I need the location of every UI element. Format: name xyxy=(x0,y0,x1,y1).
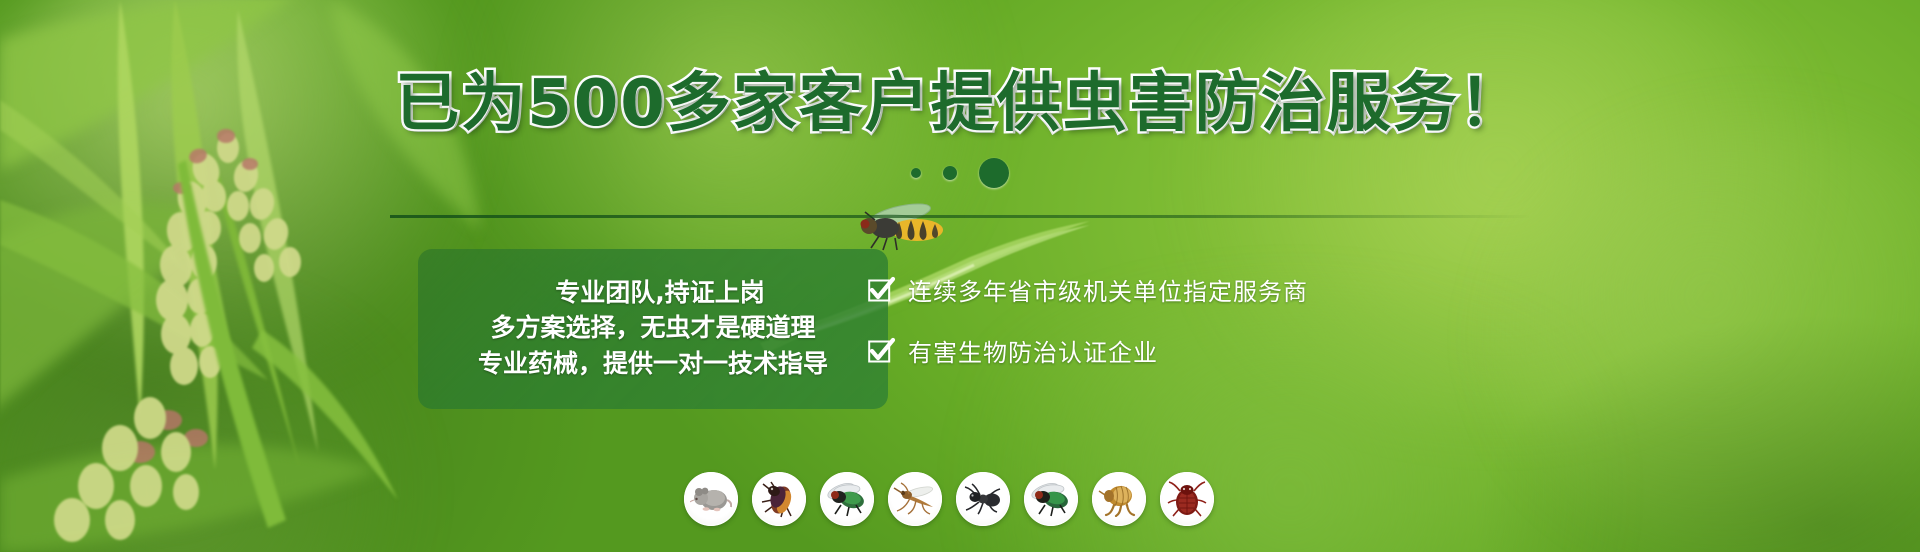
bedbug-icon[interactable] xyxy=(1160,472,1214,526)
decorative-dots xyxy=(0,158,1920,188)
dot-small-icon xyxy=(911,168,921,178)
panel-line-3: 专业药械，提供一对一技术指导 xyxy=(418,346,888,382)
credentials-list: 连续多年省市级机关单位指定服务商 有害生物防治认证企业 xyxy=(868,272,1308,368)
ant-icon[interactable] xyxy=(956,472,1010,526)
page-title: 已为500多家客户提供虫害防治服务！ xyxy=(0,72,1920,136)
features-panel-text: 专业团队,持证上岗 多方案选择，无虫才是硬道理 专业药械，提供一对一技术指导 xyxy=(418,249,888,409)
mosquito-icon[interactable] xyxy=(888,472,942,526)
headline-text: 已为500多家客户提供虫害防治服务！ xyxy=(395,72,1525,136)
dot-medium-icon xyxy=(943,166,957,180)
pest-icon-strip xyxy=(684,472,1214,526)
checkbox-checked-icon xyxy=(868,277,894,303)
rodent-icon[interactable] xyxy=(684,472,738,526)
credential-label: 有害生物防治认证企业 xyxy=(908,333,1158,368)
panel-line-1: 专业团队,持证上岗 xyxy=(418,275,888,311)
list-item: 有害生物防治认证企业 xyxy=(868,333,1308,368)
checkbox-checked-icon xyxy=(868,338,894,364)
list-item: 连续多年省市级机关单位指定服务商 xyxy=(868,272,1308,307)
credential-label: 连续多年省市级机关单位指定服务商 xyxy=(908,272,1308,307)
blowfly-icon[interactable] xyxy=(1024,472,1078,526)
divider xyxy=(390,215,1530,218)
dot-large-icon xyxy=(979,158,1009,188)
flea-icon[interactable] xyxy=(1092,472,1146,526)
promo-banner: 已为500多家客户提供虫害防治服务！ 专业团队,持证上岗 多方案选择，无虫才是硬… xyxy=(0,0,1920,552)
fly-icon[interactable] xyxy=(820,472,874,526)
panel-line-2: 多方案选择，无虫才是硬道理 xyxy=(418,310,888,346)
cockroach-icon[interactable] xyxy=(752,472,806,526)
